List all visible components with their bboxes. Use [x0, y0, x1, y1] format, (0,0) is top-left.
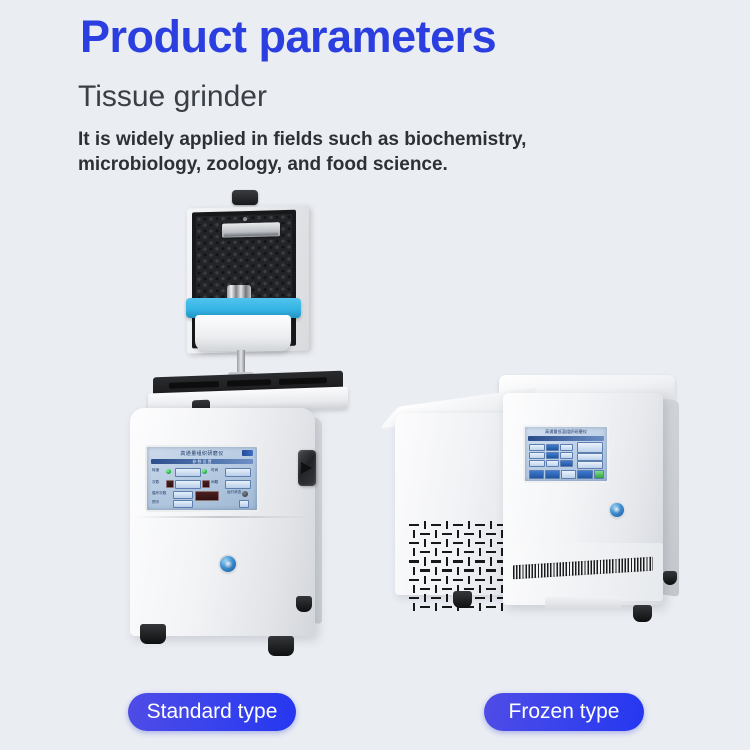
product-description: It is widely applied in fields such as b…	[78, 128, 638, 177]
machine-frozen-type: 高通量低温组织研磨仪	[395, 375, 695, 675]
panel-logo	[242, 450, 253, 456]
machine-foot	[296, 596, 312, 612]
deck-slot	[279, 377, 327, 385]
panel-display-readout	[195, 491, 219, 501]
panel-field-small[interactable]	[239, 500, 249, 508]
panel-indicator-dark	[202, 480, 210, 488]
panel-field-active[interactable]	[560, 460, 573, 467]
panel-field-active[interactable]	[577, 470, 593, 479]
panel-status-indicator	[594, 470, 604, 479]
machine-foot	[663, 571, 677, 585]
base-plinth	[545, 597, 621, 609]
machine-foot	[140, 624, 166, 644]
panel-start-button[interactable]	[529, 470, 544, 479]
machine-foot	[633, 605, 652, 622]
panel-field-wide[interactable]	[577, 442, 603, 453]
standard-type-button[interactable]: Standard type	[128, 693, 296, 731]
panel-field[interactable]	[546, 460, 559, 467]
cabinet-front	[130, 408, 315, 636]
panel-field[interactable]	[529, 444, 545, 451]
lid-hinge-knob	[232, 190, 258, 205]
brand-badge	[610, 503, 624, 517]
cabinet-seam	[134, 516, 311, 518]
product-subtitle: Tissue grinder	[78, 80, 267, 115]
panel-header-bar: 参 数 设 置	[151, 459, 253, 464]
panel-header-bar	[528, 436, 604, 441]
panel-indicator-dark	[166, 480, 174, 488]
status-led-green	[166, 469, 171, 474]
panel-field-precool[interactable]	[173, 500, 193, 508]
panel-field-active[interactable]	[546, 452, 559, 459]
control-panel-standard[interactable]: 高通量组织研磨仪 参 数 设 置 转速 时间 次数 间歇 循环次数	[145, 445, 259, 512]
panel-label-status: 运行状态	[227, 491, 241, 495]
panel-field-time[interactable]	[225, 468, 251, 477]
product-parameters-page: Product parameters Tissue grinder It is …	[0, 0, 750, 750]
panel-field-speed[interactable]	[175, 468, 201, 477]
sample-clamp	[222, 222, 280, 238]
panel-field[interactable]	[561, 470, 576, 479]
panel-field[interactable]	[529, 452, 545, 459]
deck-slot	[227, 379, 271, 387]
frozen-type-button[interactable]: Frozen type	[484, 693, 644, 731]
cooling-unit	[395, 413, 517, 595]
side-handle[interactable]	[298, 450, 316, 486]
panel-field[interactable]	[560, 444, 573, 451]
panel-bar-label: 参 数 设 置	[151, 459, 253, 464]
panel-field[interactable]	[560, 452, 573, 459]
machine-standard-type: 高通量组织研磨仪 参 数 设 置 转速 时间 次数 间歇 循环次数	[100, 200, 350, 670]
panel-field-active[interactable]	[546, 444, 559, 451]
machine-foot	[268, 636, 294, 656]
panel-label-count: 次数	[152, 481, 159, 485]
page-title: Product parameters	[80, 12, 496, 62]
panel-field-count[interactable]	[175, 480, 201, 489]
panel-label-cycles: 循环次数	[152, 492, 166, 496]
panel-title: 高通量低温组织研磨仪	[525, 429, 607, 435]
product-image-stage: 高通量组织研磨仪 参 数 设 置 转速 时间 次数 间歇 循环次数	[0, 180, 750, 680]
brand-badge	[220, 556, 236, 572]
status-led-green	[202, 469, 207, 474]
panel-label-interval: 间歇	[211, 481, 218, 485]
panel-field-cycles[interactable]	[173, 491, 193, 499]
platform-housing	[195, 315, 291, 351]
panel-field[interactable]	[529, 460, 545, 467]
panel-title: 高通量组织研磨仪	[147, 450, 257, 457]
panel-label-time: 时间	[211, 469, 218, 473]
panel-power-button[interactable]	[242, 491, 248, 497]
panel-field-wide[interactable]	[577, 453, 603, 461]
machine-foot	[453, 591, 472, 608]
panel-label-precool: 预冷	[152, 501, 159, 505]
panel-field-interval[interactable]	[225, 480, 251, 489]
panel-field-wide[interactable]	[577, 461, 603, 469]
control-panel-frozen[interactable]: 高通量低温组织研磨仪	[523, 425, 609, 483]
deck-slot	[169, 381, 219, 389]
panel-stop-button[interactable]	[545, 470, 560, 479]
panel-label-speed: 转速	[152, 469, 159, 473]
